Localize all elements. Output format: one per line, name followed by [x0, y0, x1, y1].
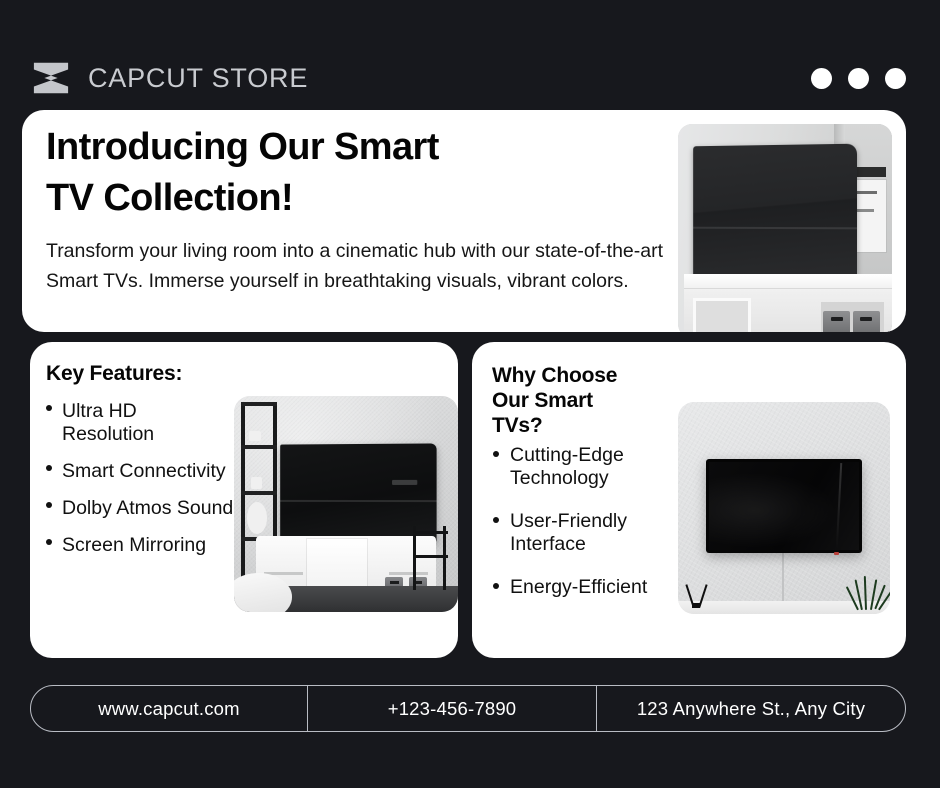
key-features-card: Key Features: Ultra HD Resolution Smart … [30, 342, 458, 658]
dot-2-icon[interactable] [848, 68, 869, 89]
why-choose-heading: Why Choose Our Smart TVs? [492, 364, 617, 438]
list-item: Dolby Atmos Sound [44, 497, 234, 520]
list-item: Ultra HD Resolution [44, 400, 234, 446]
hero-card: Introducing Our Smart TV Collection! Tra… [22, 110, 906, 332]
dot-3-icon[interactable] [885, 68, 906, 89]
key-features-list: Ultra HD Resolution Smart Connectivity D… [44, 400, 234, 571]
brand-lockup: CAPCUT STORE [30, 59, 308, 97]
list-item: Energy-Efficient [490, 576, 690, 599]
list-item: Screen Mirroring [44, 534, 234, 557]
why-choose-list: Cutting-Edge Technology User-Friendly In… [490, 444, 690, 619]
capcut-logo-icon [30, 59, 72, 97]
poster-canvas: CAPCUT STORE Introducing Our Smart TV Co… [0, 0, 940, 788]
list-item: Cutting-Edge Technology [490, 444, 690, 490]
footer-phone[interactable]: +123-456-7890 [307, 686, 597, 731]
wall-mounted-tv-photo [678, 402, 890, 614]
window-dots[interactable] [811, 68, 910, 89]
footer-website[interactable]: www.capcut.com [31, 686, 307, 731]
hero-photo-curved-tv [678, 124, 892, 332]
hero-body: Transform your living room into a cinema… [46, 237, 666, 296]
hero-text-block: Introducing Our Smart TV Collection! Tra… [46, 122, 666, 296]
footer-address[interactable]: 123 Anywhere St., Any City [597, 686, 905, 731]
list-item: User-Friendly Interface [490, 510, 690, 556]
living-room-photo [234, 396, 458, 612]
list-item: Smart Connectivity [44, 460, 234, 483]
brand-name: CAPCUT STORE [88, 63, 308, 94]
poster-header: CAPCUT STORE [30, 52, 910, 104]
contact-footer: www.capcut.com +123-456-7890 123 Anywher… [30, 685, 906, 732]
key-features-heading: Key Features: [46, 362, 182, 387]
dot-1-icon[interactable] [811, 68, 832, 89]
hero-title: Introducing Our Smart TV Collection! [46, 122, 666, 223]
why-choose-card: Why Choose Our Smart TVs? Cutting-Edge T… [472, 342, 906, 658]
